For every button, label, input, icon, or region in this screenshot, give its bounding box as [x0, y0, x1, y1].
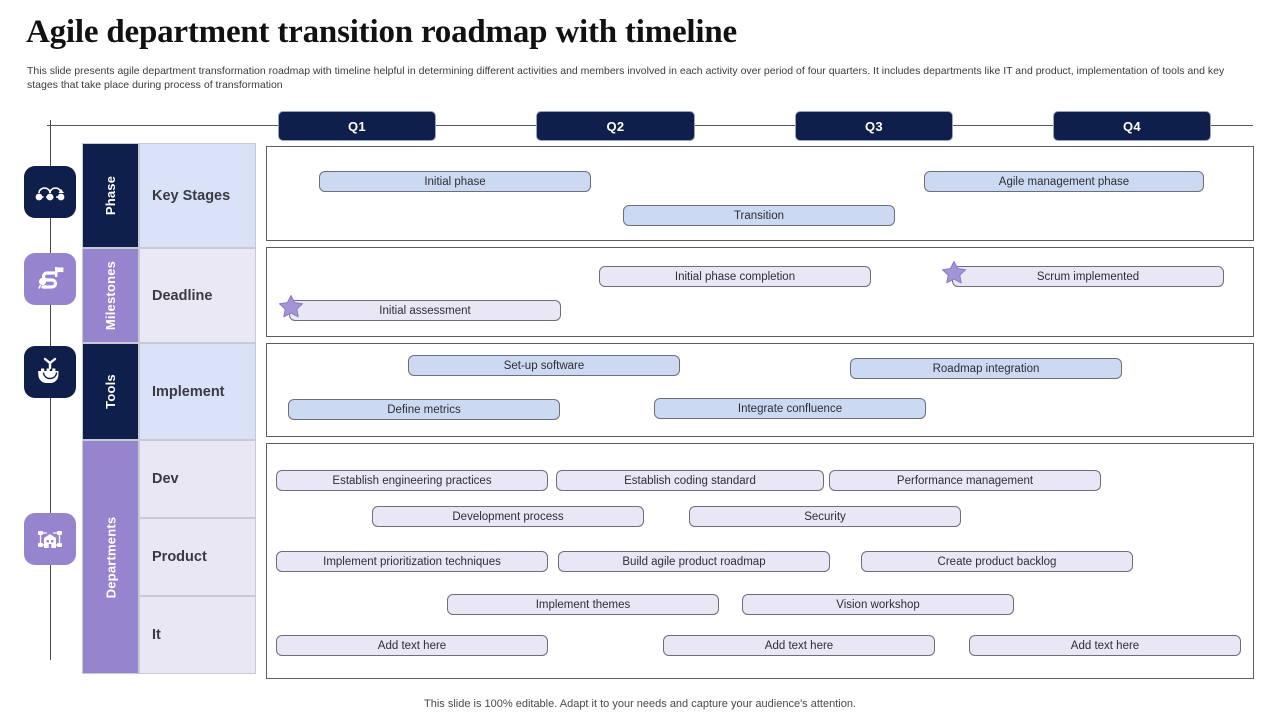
task-bar[interactable]: Build agile product roadmap	[558, 551, 830, 572]
task-bar-label: Add text here	[765, 640, 833, 652]
task-bar[interactable]: Establish engineering practices	[276, 470, 548, 491]
category-label-table: PhaseMilestonesToolsDepartmentsKey Stage…	[82, 143, 256, 674]
band-phase: Phase	[82, 143, 139, 248]
task-bar-label: Agile management phase	[999, 176, 1129, 188]
task-bar-label: Development process	[452, 511, 563, 523]
star-icon	[941, 260, 967, 285]
task-bar[interactable]: Transition	[623, 205, 895, 226]
quarter-label: Q4	[1123, 119, 1141, 134]
row-label-text: Dev	[152, 471, 179, 487]
task-bar-label: Add text here	[378, 640, 446, 652]
task-bar[interactable]: Roadmap integration	[850, 358, 1122, 379]
quarter-label: Q1	[348, 119, 366, 134]
page-title: Agile department transition roadmap with…	[26, 14, 737, 51]
quarter-chip-q2[interactable]: Q2	[536, 111, 695, 141]
task-bar[interactable]: Implement prioritization techniques	[276, 551, 548, 572]
task-bar-label: Initial phase completion	[675, 271, 795, 283]
star-icon	[278, 294, 304, 319]
task-bar-label: Initial phase	[424, 176, 485, 188]
row-label-text: Product	[152, 549, 207, 565]
quarter-chip-q4[interactable]: Q4	[1053, 111, 1211, 141]
implement-panel: Set-up softwareRoadmap integrationDefine…	[266, 343, 1254, 437]
task-bar[interactable]: Agile management phase	[924, 171, 1204, 192]
quarter-chip-q1[interactable]: Q1	[278, 111, 436, 141]
page-subtitle: This slide presents agile department tra…	[27, 64, 1227, 92]
task-bar-label: Security	[804, 511, 846, 523]
task-bar[interactable]: Implement themes	[447, 594, 719, 615]
task-bar[interactable]: Integrate confluence	[654, 398, 926, 419]
quarter-label: Q2	[607, 119, 625, 134]
task-bar-label: Add text here	[1071, 640, 1139, 652]
task-bar[interactable]: Scrum implemented	[952, 266, 1224, 287]
task-bar[interactable]: Add text here	[969, 635, 1241, 656]
row-label-product: Product	[139, 518, 256, 596]
task-bar-label: Scrum implemented	[1037, 271, 1139, 283]
task-bar-label: Performance management	[897, 475, 1033, 487]
departments-panel: Establish engineering practicesEstablish…	[266, 443, 1254, 679]
row-label-key-stages: Key Stages	[139, 143, 256, 248]
band-departments: Departments	[82, 440, 139, 674]
task-bar[interactable]: Vision workshop	[742, 594, 1014, 615]
row-label-text: Deadline	[152, 288, 212, 304]
band-label: Departments	[103, 516, 118, 598]
task-bar[interactable]: Initial phase completion	[599, 266, 871, 287]
task-bar[interactable]: Add text here	[663, 635, 935, 656]
band-label: Tools	[103, 374, 118, 409]
task-bar[interactable]: Add text here	[276, 635, 548, 656]
task-bar[interactable]: Define metrics	[288, 399, 560, 420]
band-milestones: Milestones	[82, 248, 139, 343]
row-label-text: Key Stages	[152, 188, 230, 204]
task-bar[interactable]: Performance management	[829, 470, 1101, 491]
task-bar[interactable]: Development process	[372, 506, 644, 527]
task-bar-label: Implement themes	[536, 599, 631, 611]
task-bar[interactable]: Set-up software	[408, 355, 680, 376]
task-bar-label: Transition	[734, 210, 784, 222]
band-label: Milestones	[103, 261, 118, 330]
org-building-icon	[24, 513, 76, 565]
task-bar-label: Implement prioritization techniques	[323, 556, 501, 568]
footer-note: This slide is 100% editable. Adapt it to…	[0, 698, 1280, 710]
task-bar[interactable]: Initial assessment	[289, 300, 561, 321]
band-label: Phase	[103, 176, 118, 215]
task-bar-label: Create product backlog	[938, 556, 1057, 568]
task-bar[interactable]: Establish coding standard	[556, 470, 824, 491]
task-bar-label: Roadmap integration	[933, 363, 1040, 375]
task-bar-label: Establish coding standard	[624, 475, 756, 487]
task-bar[interactable]: Security	[689, 506, 961, 527]
road-flag-icon	[24, 253, 76, 305]
task-bar[interactable]: Initial phase	[319, 171, 591, 192]
row-label-text: Implement	[152, 384, 225, 400]
deadline-panel: Initial phase completionScrum implemente…	[266, 247, 1254, 337]
task-bar-label: Initial assessment	[379, 305, 470, 317]
task-bar-label: Define metrics	[387, 404, 461, 416]
band-tools: Tools	[82, 343, 139, 440]
quarter-chip-q3[interactable]: Q3	[795, 111, 953, 141]
row-label-it: It	[139, 596, 256, 674]
task-bar-label: Integrate confluence	[738, 403, 842, 415]
row-label-implement: Implement	[139, 343, 256, 440]
task-bar[interactable]: Create product backlog	[861, 551, 1133, 572]
key-stages-panel: Initial phaseAgile management phaseTrans…	[266, 146, 1254, 241]
row-label-deadline: Deadline	[139, 248, 256, 343]
task-bar-label: Set-up software	[504, 360, 585, 372]
row-label-text: It	[152, 627, 161, 643]
row-label-dev: Dev	[139, 440, 256, 518]
milestone-path-icon	[24, 166, 76, 218]
gear-tools-icon	[24, 346, 76, 398]
task-bar-label: Establish engineering practices	[332, 475, 491, 487]
task-bar-label: Vision workshop	[836, 599, 920, 611]
task-bar-label: Build agile product roadmap	[622, 556, 765, 568]
quarter-label: Q3	[865, 119, 883, 134]
